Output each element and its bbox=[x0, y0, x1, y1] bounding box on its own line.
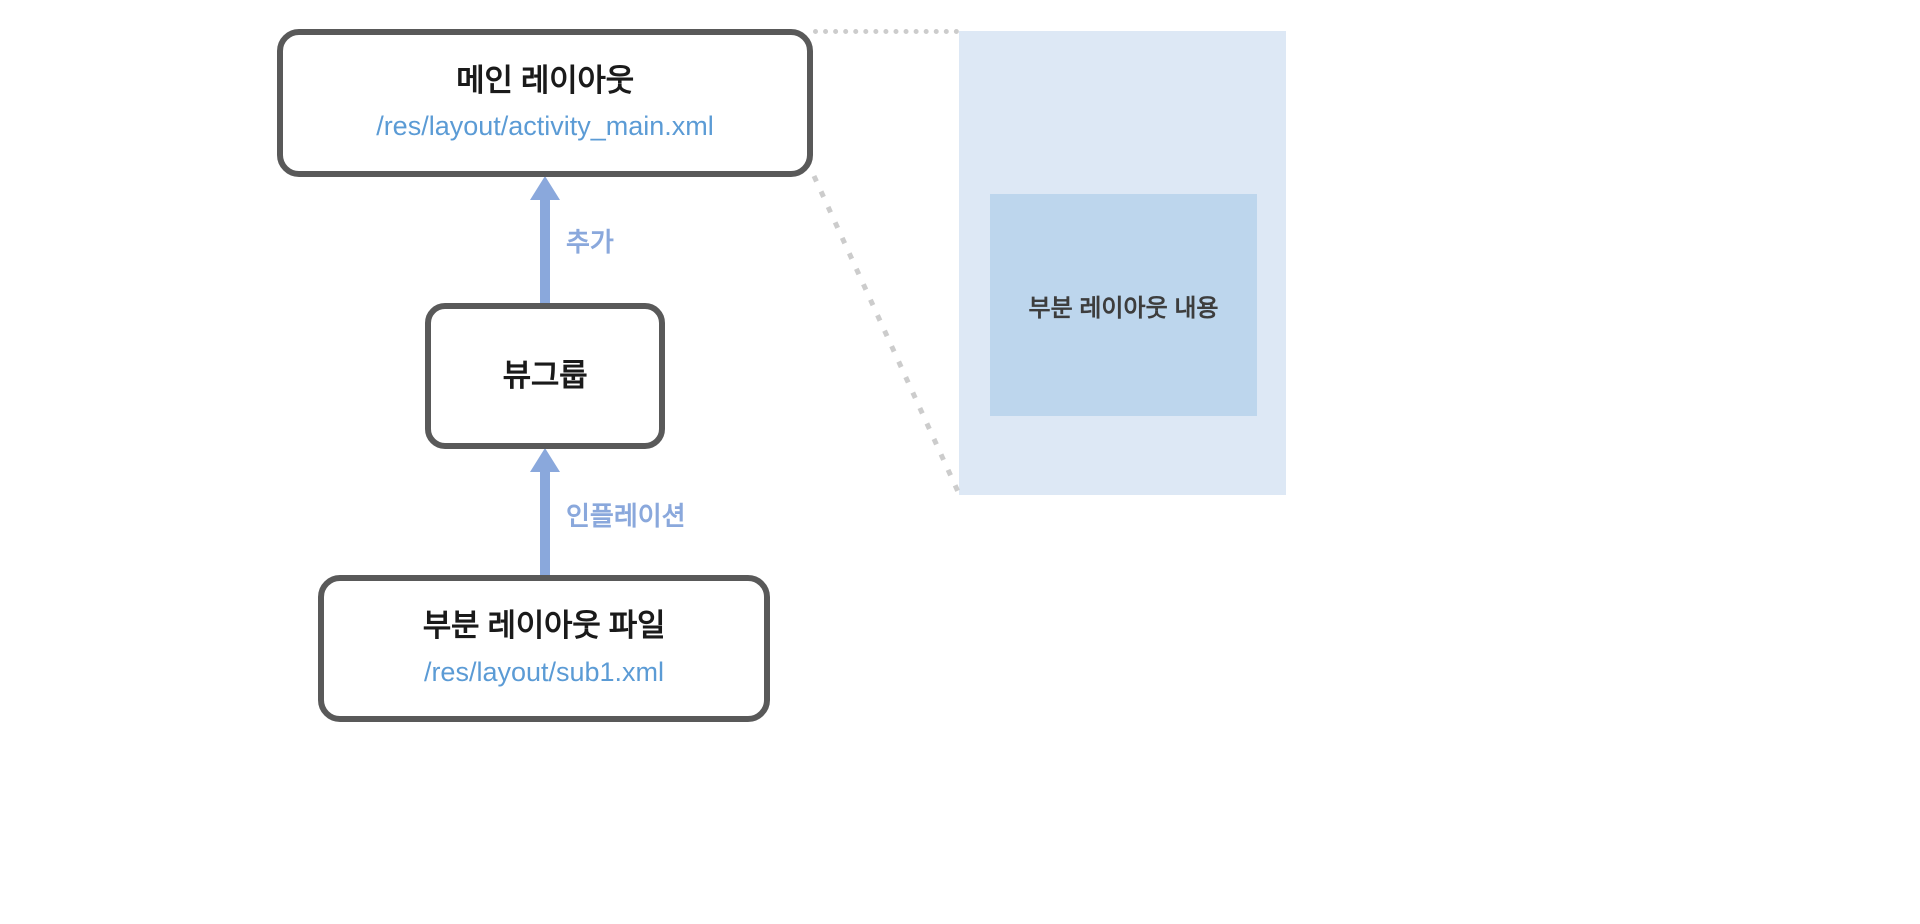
node-main-layout[interactable]: 메인 레이아웃 /res/layout/activity_main.xml bbox=[277, 29, 813, 177]
arrow-shaft bbox=[540, 196, 550, 308]
node-sub-layout-file-title: 부분 레이아웃 파일 bbox=[423, 607, 665, 646]
node-sub-layout-file[interactable]: 부분 레이아웃 파일 /res/layout/sub1.xml bbox=[318, 575, 770, 722]
diagram-canvas: 부분 레이아웃 내용 메인 레이아웃 /res/layout/activity_… bbox=[0, 0, 1920, 924]
edge-label-inflation: 인플레이션 bbox=[566, 496, 686, 533]
node-main-layout-title: 메인 레이아웃 bbox=[456, 62, 634, 101]
node-sub-layout-file-path: /res/layout/sub1.xml bbox=[424, 655, 664, 690]
arrow-add-up bbox=[520, 176, 570, 308]
arrow-shaft bbox=[540, 468, 550, 579]
preview-panel-inner-region: 부분 레이아웃 내용 bbox=[990, 194, 1257, 416]
edge-label-add: 추가 bbox=[566, 222, 614, 259]
node-viewgroup[interactable]: 뷰그룹 bbox=[425, 303, 665, 449]
preview-inner-label: 부분 레이아웃 내용 bbox=[1029, 288, 1219, 323]
connector-dotted-top bbox=[813, 29, 959, 34]
node-viewgroup-title: 뷰그룹 bbox=[503, 357, 588, 396]
node-main-layout-path: /res/layout/activity_main.xml bbox=[376, 109, 714, 144]
arrow-inflate-up bbox=[520, 448, 570, 579]
